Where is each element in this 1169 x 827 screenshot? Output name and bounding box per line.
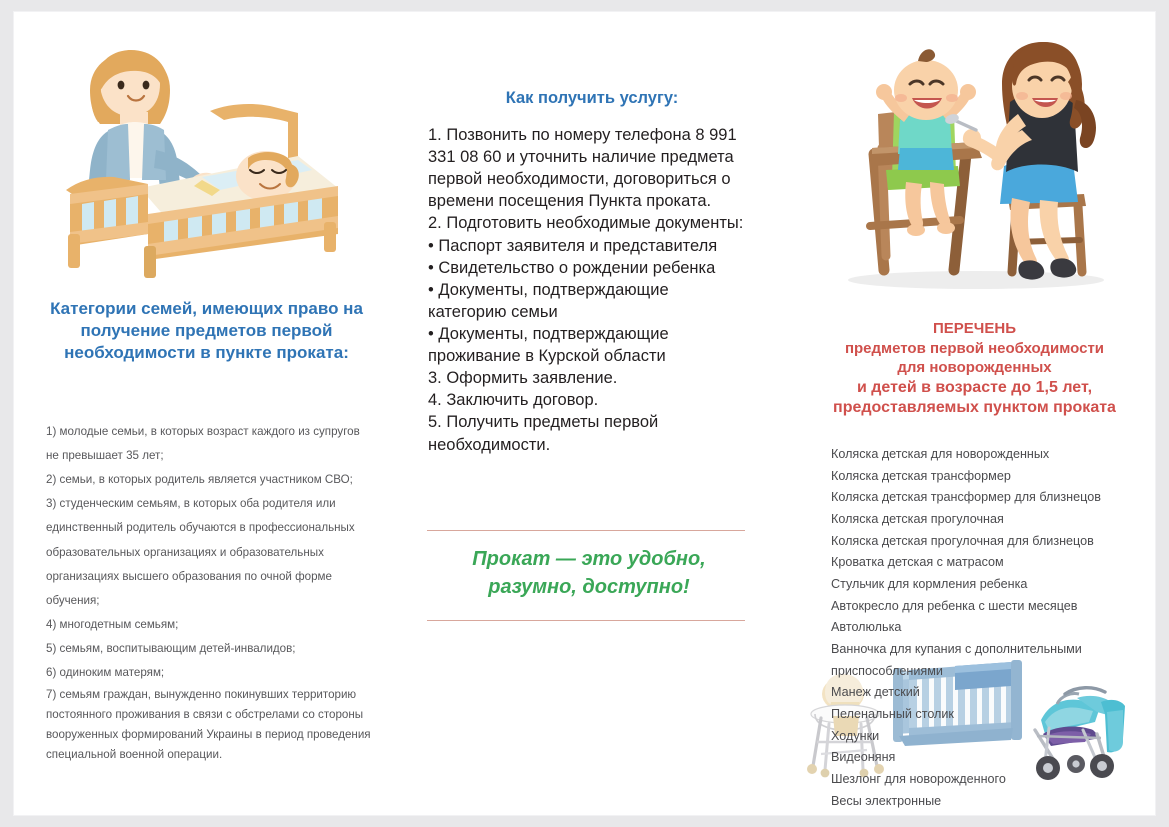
list-item: 3) студенческим семьям, в которых оба ро… — [46, 492, 371, 613]
step-item: 4. Заключить договор. — [428, 389, 748, 411]
list-item: Автокресло для ребенка с шести месяцев — [831, 596, 1151, 618]
eligible-family-categories-list: 1) молодые семьи, в которых возраст кажд… — [46, 420, 371, 765]
document-bullet: • Свидетельство о рождении ребенка — [428, 257, 748, 279]
list-item: Видеоняня — [831, 747, 1151, 769]
list-item: Коляска детская трансформер для близнецо… — [831, 487, 1151, 509]
service-steps-list: 1. Позвонить по номеру телефона 8 991 33… — [428, 124, 748, 456]
divider-above-slogan — [427, 530, 745, 531]
list-item: 2) семьи, в которых родитель является уч… — [46, 468, 371, 492]
list-item: Ходунки — [831, 726, 1151, 748]
list-item: 4) многодетным семьям; — [46, 613, 371, 637]
list-item: Шезлонг для новорожденного — [831, 769, 1151, 791]
slogan: Прокат — это удобно, разумно, доступно! — [419, 545, 759, 601]
list-item: Весы электронные — [831, 791, 1151, 813]
essential-items-list: Коляска детская для новорожденных Коляск… — [831, 444, 1151, 812]
brochure-page: Категории семей, имеющих право на получе… — [14, 12, 1155, 815]
list-item: Коляска детская для новорожденных — [831, 444, 1151, 466]
step-item: 3. Оформить заявление. — [428, 367, 748, 389]
list-item: Пеленальный столик — [831, 704, 1151, 726]
list-item: Коляска детская прогулочная для близнецо… — [831, 531, 1151, 553]
middle-column: Как получить услугу: 1. Позвонить по ном… — [399, 12, 784, 815]
mother-and-baby-in-crib-illustration — [52, 38, 342, 283]
list-item: 1) молодые семьи, в которых возраст кажд… — [46, 420, 371, 468]
heading-line-2: предметов первой необходимости — [802, 339, 1147, 359]
document-bullet: • Паспорт заявителя и представителя — [428, 235, 748, 257]
step-item: 5. Получить предметы первой необходимост… — [428, 411, 748, 455]
divider-below-slogan — [427, 620, 745, 621]
heading-line-3: для новорожденных — [802, 358, 1147, 378]
left-column: Категории семей, имеющих право на получе… — [14, 12, 399, 815]
heading-line-1: ПЕРЕЧЕНЬ — [802, 319, 1147, 339]
how-to-get-service-heading: Как получить услугу: — [427, 88, 757, 109]
list-item: Коляска детская трансформер — [831, 466, 1151, 488]
essential-items-heading: ПЕРЕЧЕНЬ предметов первой необходимости … — [802, 319, 1147, 419]
step-item: 1. Позвонить по номеру телефона 8 991 33… — [428, 124, 748, 212]
screenshot-viewport: Категории семей, имеющих право на получе… — [0, 0, 1169, 827]
slogan-line-2: разумно, доступно! — [419, 573, 759, 601]
heading-line-5: предоставляемых пунктом проката — [802, 398, 1147, 419]
right-column: ПЕРЕЧЕНЬ предметов первой необходимости … — [784, 12, 1155, 815]
list-item-final: 7) семьям граждан, вынужденно покинувших… — [46, 685, 371, 765]
step-item: 2. Подготовить необходимые документы: — [428, 212, 748, 234]
list-item: 6) одиноким матерям; — [46, 661, 371, 685]
heading-line-4: и детей в возрасте до 1,5 лет, — [802, 378, 1147, 399]
document-bullet: • Документы, подтверждающие проживание в… — [428, 323, 748, 367]
list-item: Ванночка для купания с дополнительными п… — [831, 639, 1151, 682]
list-item: 5) семьям, воспитывающим детей-инвалидов… — [46, 637, 371, 661]
list-item: Кроватка детская с матрасом — [831, 552, 1151, 574]
left-heading-colon: : — [343, 343, 349, 362]
list-item: Автолюлька — [831, 617, 1151, 639]
list-item: Стульчик для кормления ребенка — [831, 574, 1151, 596]
list-item: Манеж детский — [831, 682, 1151, 704]
document-bullet: • Документы, подтверждающие категорию се… — [428, 279, 748, 323]
mother-feeding-baby-illustration — [826, 30, 1126, 292]
slogan-line-1: Прокат — это удобно, — [419, 545, 759, 573]
left-column-heading: Категории семей, имеющих право на получе… — [44, 298, 369, 363]
list-item: Коляска детская прогулочная — [831, 509, 1151, 531]
